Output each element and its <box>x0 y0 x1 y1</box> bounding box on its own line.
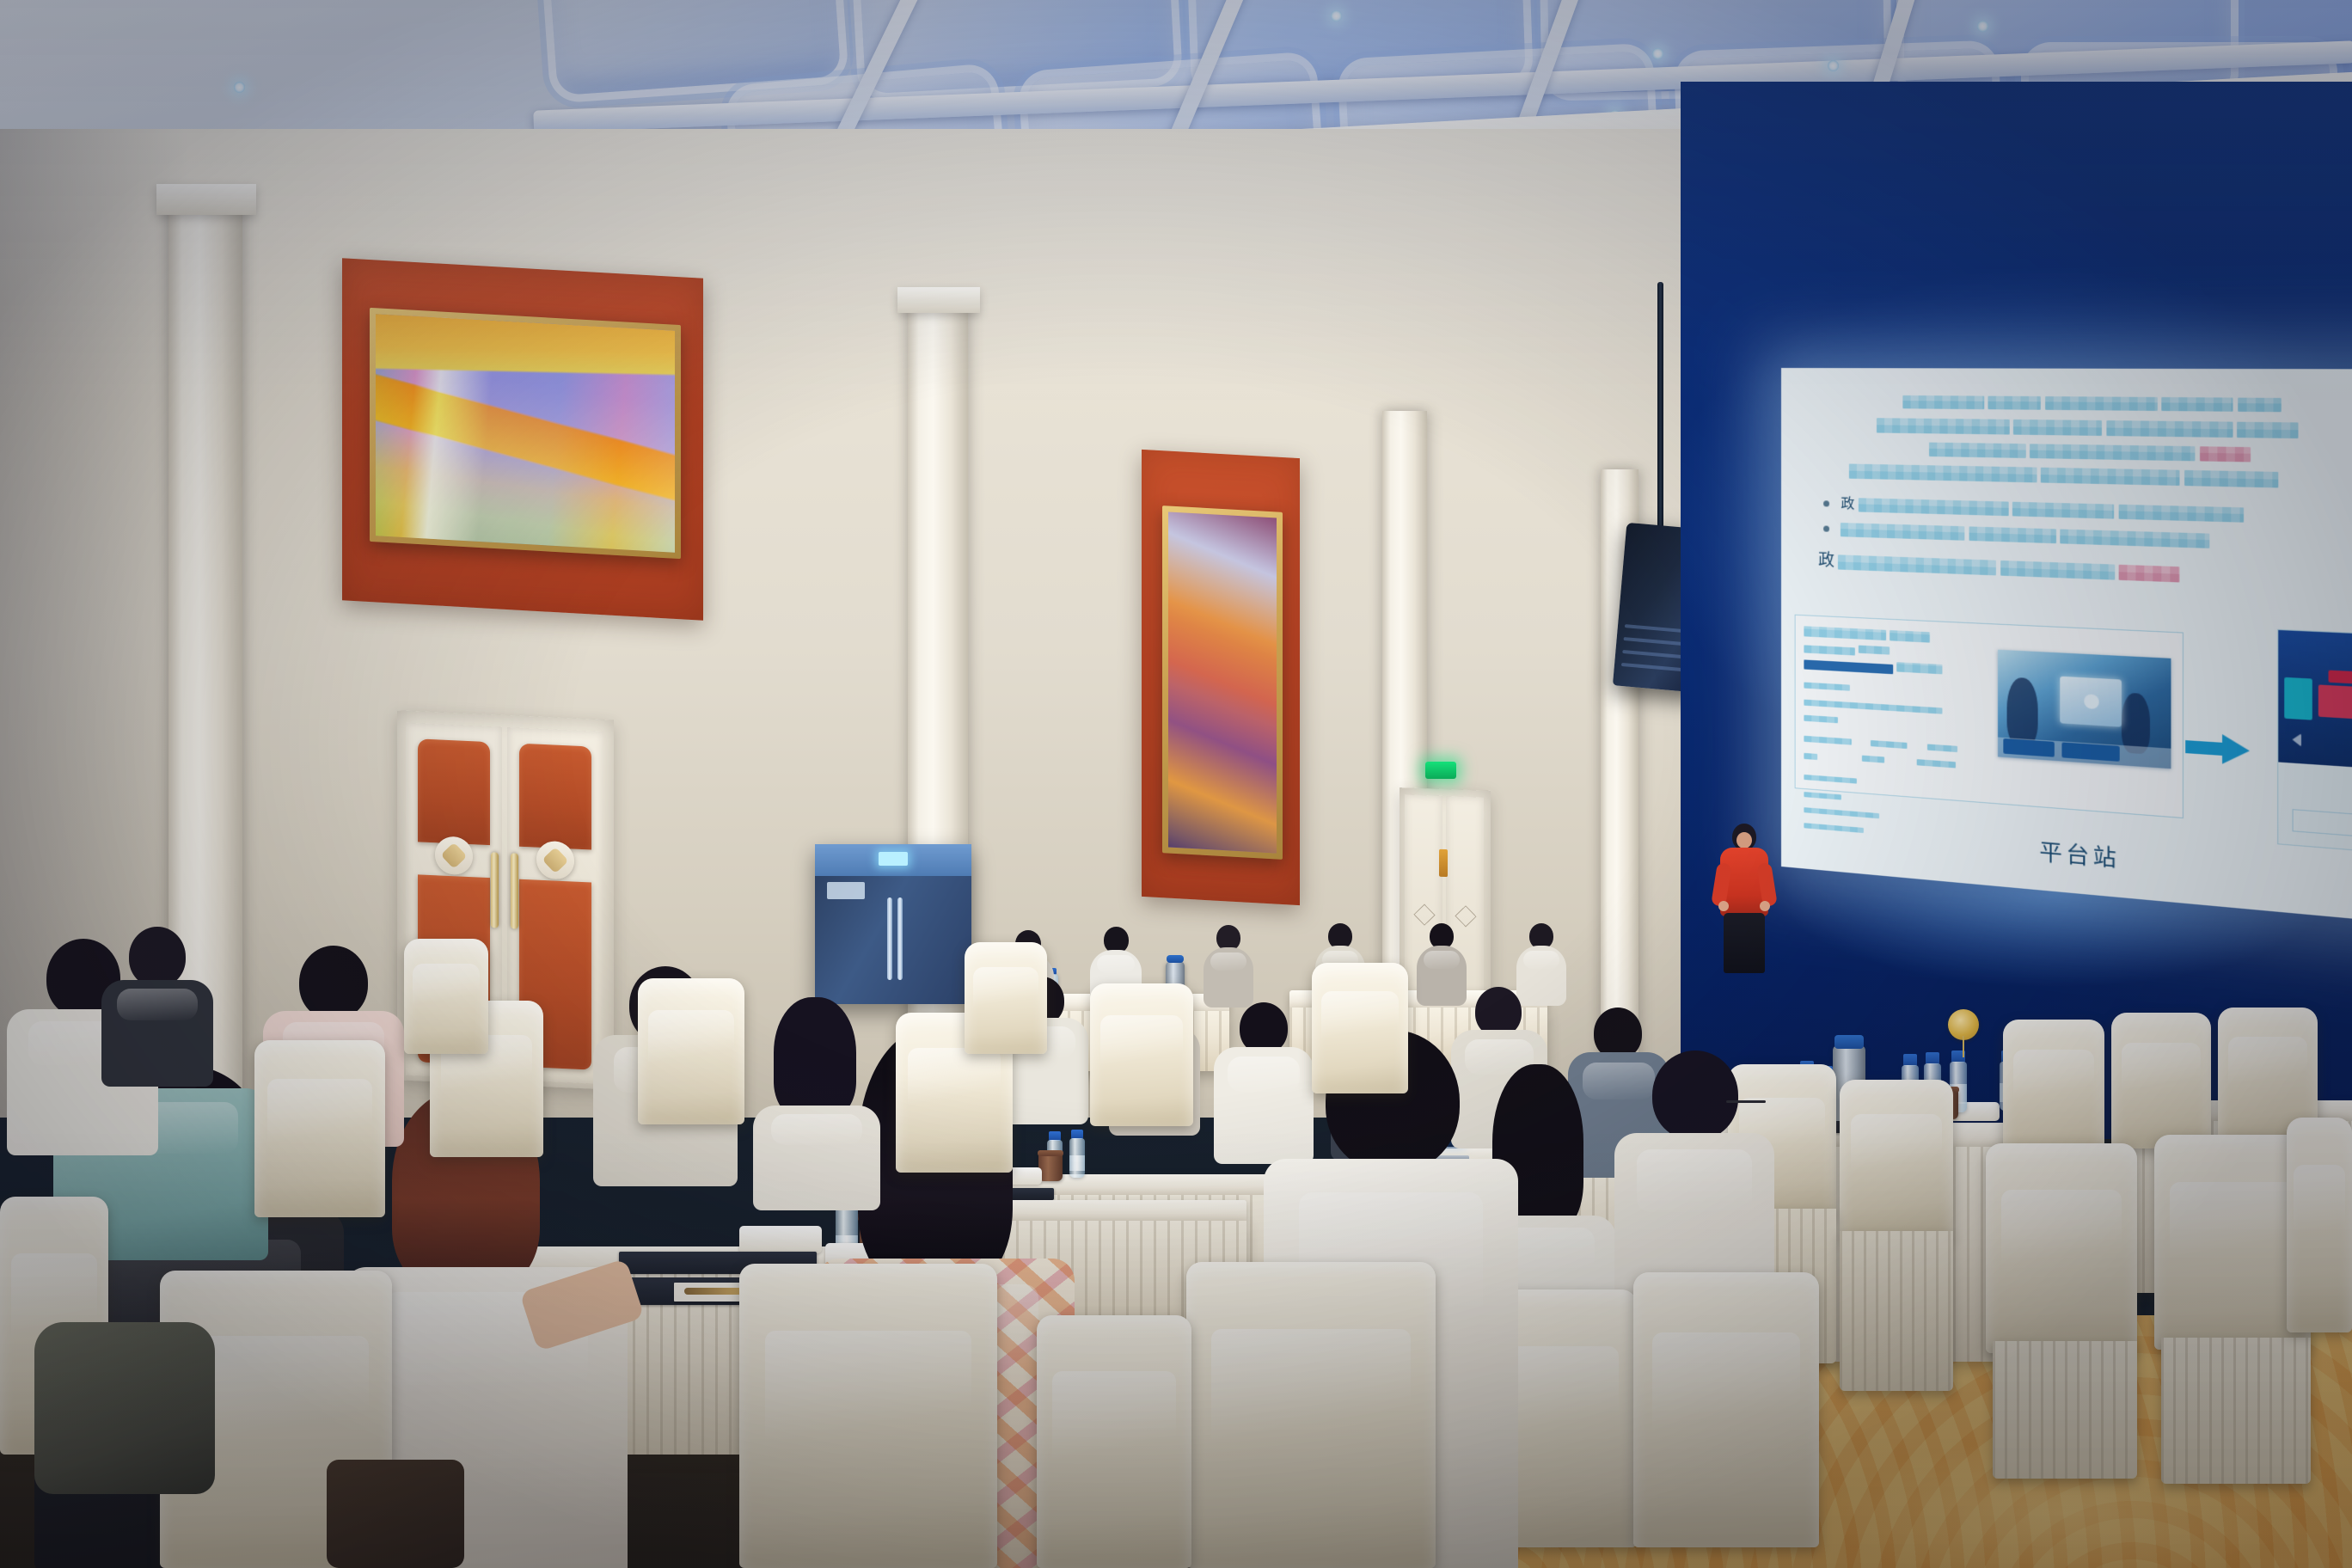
speaker-mount-pole <box>1657 282 1663 531</box>
attendee <box>753 997 880 1204</box>
presenter-face <box>1736 832 1752 848</box>
banquet-chair[interactable] <box>2287 1118 2352 1332</box>
conference-hall-photo: 政 政 <box>0 0 2352 1568</box>
banquet-chair[interactable] <box>404 939 488 1054</box>
banquet-chair[interactable] <box>1037 1315 1191 1568</box>
attendee <box>1204 925 1253 1008</box>
cabinet-handle[interactable] <box>887 897 892 980</box>
attendee <box>101 927 213 1081</box>
mockup-side-badge <box>2284 677 2312 720</box>
presenter <box>1713 824 1775 971</box>
mockup-input-field <box>2293 809 2352 842</box>
abstract-figure-painting <box>1162 505 1283 860</box>
door-panel <box>418 738 490 845</box>
banquet-chair[interactable] <box>638 978 744 1124</box>
cabinet-display <box>879 852 908 866</box>
door-handle[interactable] <box>1439 849 1448 877</box>
banquet-chair[interactable] <box>1090 983 1193 1126</box>
banquet-chair[interactable] <box>739 1264 997 1568</box>
pilaster-capital <box>156 184 256 215</box>
banquet-chair[interactable] <box>2003 1020 2104 1157</box>
cabinet-badge <box>827 882 865 899</box>
banquet-chair[interactable] <box>254 1040 385 1217</box>
slide-content-card <box>1795 615 2184 818</box>
banquet-chair[interactable] <box>2111 1013 2211 1148</box>
presenter-skirt <box>1724 913 1765 973</box>
presenter-hand-right <box>1760 901 1770 911</box>
chair-skirt <box>1993 1341 2137 1479</box>
table-number-stand <box>1948 1009 1979 1040</box>
flow-arrow-right <box>2185 732 2250 763</box>
banquet-chair[interactable] <box>1312 963 1408 1093</box>
mockup-promo-banner <box>2318 684 2352 723</box>
door-panel <box>519 744 591 850</box>
mockup-arrow-left-icon <box>2293 733 2301 747</box>
mockup-tag <box>2329 671 2352 685</box>
banquet-chair[interactable] <box>1186 1262 1436 1568</box>
cabinet-handle[interactable] <box>897 897 903 980</box>
card-thumbnail-image <box>1998 650 2171 769</box>
door-handle[interactable] <box>511 853 518 928</box>
mobile-app-mockup <box>2277 629 2352 857</box>
projection-screen: 政 政 <box>1781 368 2352 924</box>
exit-sign <box>1425 762 1456 779</box>
slide-bullet: 政 <box>1823 491 2352 527</box>
mockup-banner <box>2278 630 2352 773</box>
door-handle[interactable] <box>491 852 499 928</box>
pilaster-capital <box>897 287 980 313</box>
chair-skirt <box>1840 1231 1953 1391</box>
backpack <box>34 1322 215 1494</box>
abstract-landscape-painting <box>370 308 681 559</box>
banquet-chair[interactable] <box>1840 1080 1953 1238</box>
chair-skirt <box>2161 1338 2311 1484</box>
handbag <box>327 1460 464 1568</box>
banquet-chair[interactable] <box>1633 1272 1819 1547</box>
presenter-hand-left <box>1718 901 1729 911</box>
banquet-chair[interactable] <box>965 942 1047 1054</box>
banquet-chair[interactable] <box>1986 1143 2137 1353</box>
